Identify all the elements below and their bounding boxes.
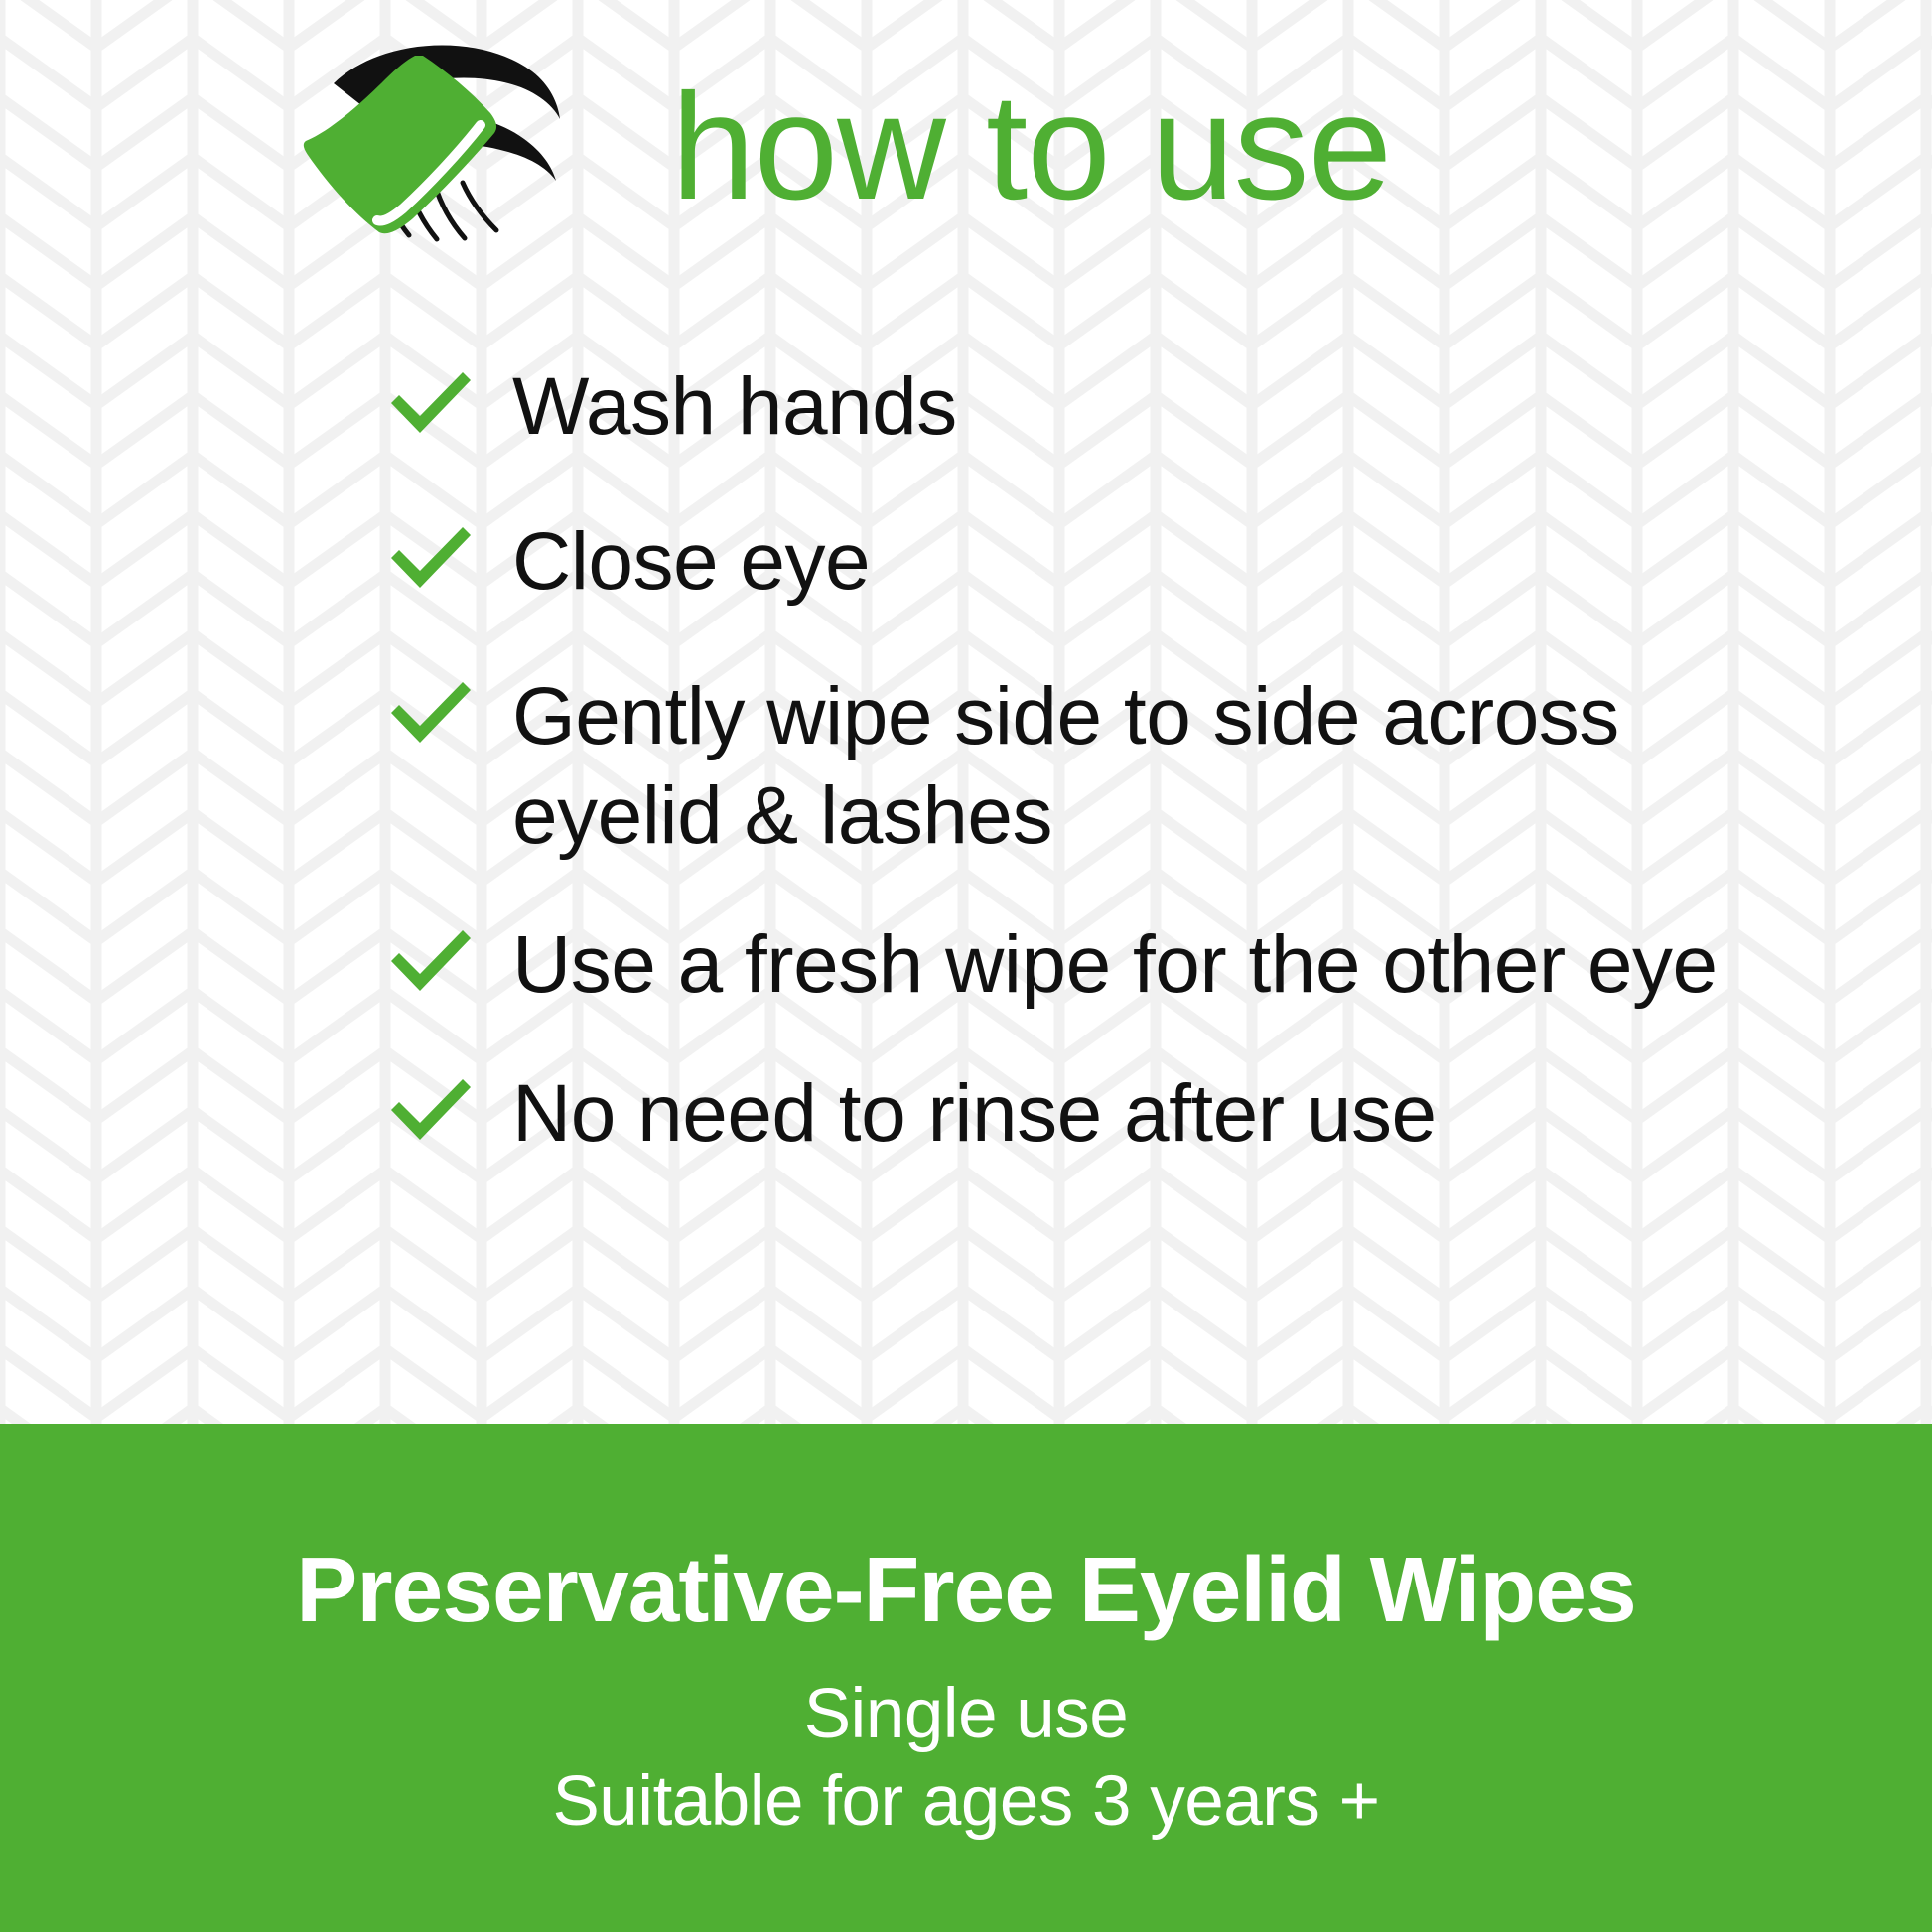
list-item: Use a fresh wipe for the other eye xyxy=(0,915,1932,1015)
check-icon xyxy=(387,927,473,1001)
page-title: how to use xyxy=(671,71,1391,222)
check-icon xyxy=(387,679,473,753)
how-to-use-panel: how to use Wash hands Close eye xyxy=(0,0,1932,1932)
check-icon xyxy=(387,1076,473,1150)
list-item: Gently wipe side to side across eyelid &… xyxy=(0,667,1932,866)
header: how to use xyxy=(0,0,1932,258)
check-icon xyxy=(387,524,473,598)
product-name: Preservative-Free Eyelid Wipes xyxy=(0,1538,1932,1641)
list-item-label: Use a fresh wipe for the other eye xyxy=(512,915,1718,1015)
check-icon xyxy=(387,369,473,443)
list-item: Close eye xyxy=(0,512,1932,612)
eyelid-wipe-eye-icon xyxy=(234,34,562,254)
list-item-label: No need to rinse after use xyxy=(512,1064,1437,1164)
product-age-note: Suitable for ages 3 years + xyxy=(0,1758,1932,1846)
list-item-label: Gently wipe side to side across eyelid &… xyxy=(512,667,1843,866)
product-footer-band: Preservative-Free Eyelid Wipes Single us… xyxy=(0,1424,1932,1932)
list-item-label: Close eye xyxy=(512,512,870,612)
steps-list: Wash hands Close eye Gently wipe side to… xyxy=(0,357,1932,1219)
list-item: No need to rinse after use xyxy=(0,1064,1932,1164)
product-usage-note: Single use xyxy=(0,1671,1932,1758)
list-item: Wash hands xyxy=(0,357,1932,457)
list-item-label: Wash hands xyxy=(512,357,957,457)
